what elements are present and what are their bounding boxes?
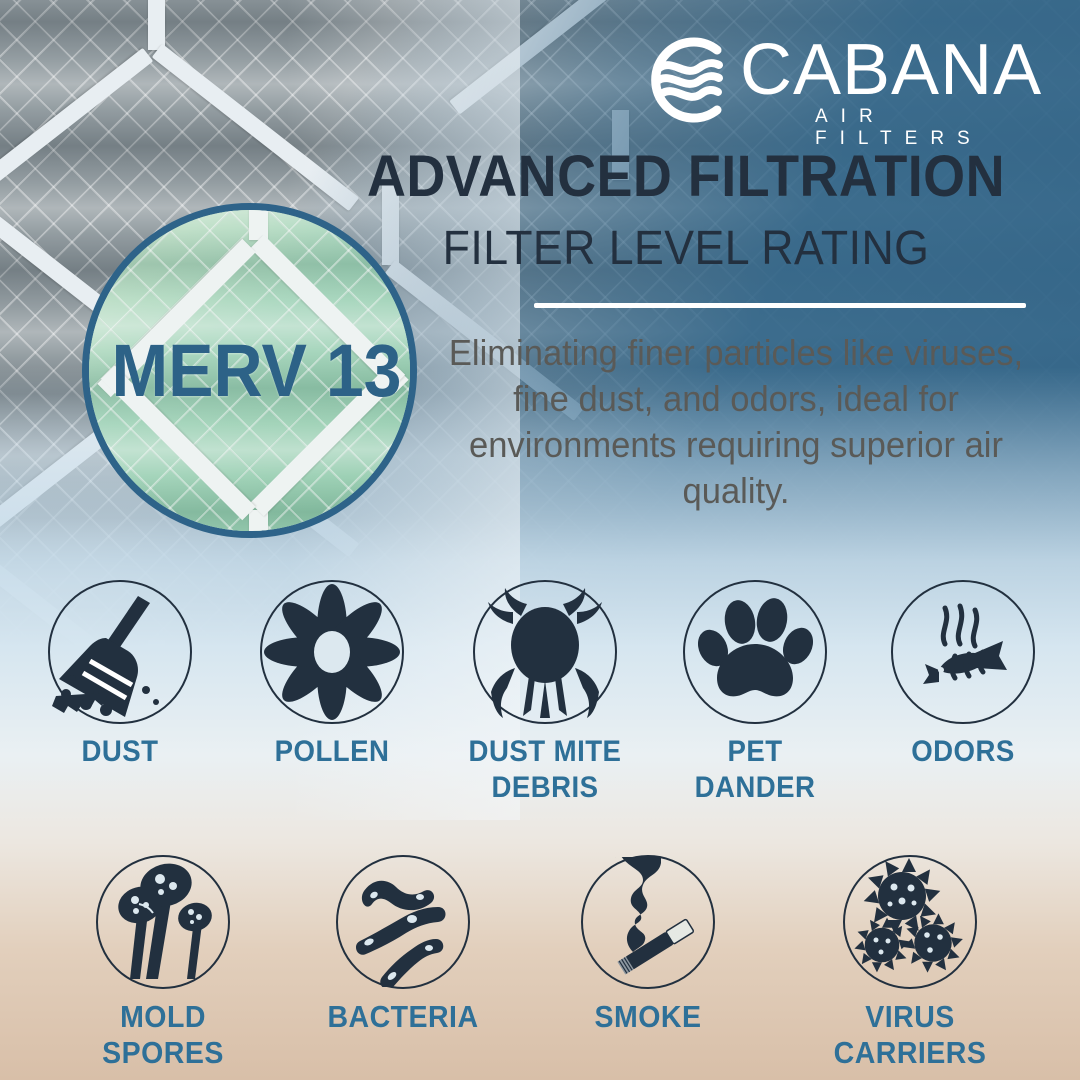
divider (534, 303, 1026, 308)
fish-bone-odor-icon (891, 580, 1035, 724)
contaminant-smoke: SMOKE (548, 855, 748, 1035)
merv-rating-badge: MERV 13 (82, 203, 417, 538)
contaminant-label: POLLEN (240, 734, 424, 770)
brand-name: CABANA (740, 32, 1042, 108)
wave-c-logo-icon (645, 34, 737, 126)
contaminant-label: BACTERIA (311, 999, 495, 1035)
merv-rating-text: MERV 13 (102, 328, 410, 413)
broom-dust-icon (48, 580, 192, 724)
contaminant-label: DUST MITE DEBRIS (453, 734, 637, 806)
contaminant-bacteria: BACTERIA (303, 855, 503, 1035)
contaminant-odors: ODORS (863, 580, 1063, 770)
virus-particles-icon (843, 855, 977, 989)
brand-logo: CABANA AIR FILTERS (645, 30, 1045, 135)
contaminant-label: DUST (28, 734, 212, 770)
contaminant-dust-mite: DUST MITE DEBRIS (445, 580, 645, 806)
mold-spore-icon (96, 855, 230, 989)
dust-mite-icon (473, 580, 617, 724)
description-text: Eliminating finer particles like viruses… (448, 330, 1024, 514)
contaminant-pet-dander: PET DANDER (655, 580, 855, 806)
paw-print-icon (683, 580, 827, 724)
contaminant-label: MOLD SPORES (71, 999, 255, 1071)
page-subtitle: FILTER LEVEL RATING (361, 222, 1012, 276)
contaminant-pollen: POLLEN (232, 580, 432, 770)
contaminant-virus-carriers: VIRUS CARRIERS (810, 855, 1010, 1071)
contaminant-label: SMOKE (556, 999, 740, 1035)
contaminant-dust: DUST (20, 580, 220, 770)
cigarette-smoke-icon (581, 855, 715, 989)
contaminant-label: PET DANDER (663, 734, 847, 806)
infographic-poster: CABANA AIR FILTERS ADVANCED FILTRATION F… (0, 0, 1080, 1080)
page-title: ADVANCED FILTRATION (361, 146, 1012, 208)
bacteria-rods-icon (336, 855, 470, 989)
contaminant-label: VIRUS CARRIERS (818, 999, 1002, 1071)
flower-icon (260, 580, 404, 724)
contaminant-mold-spores: MOLD SPORES (63, 855, 263, 1071)
contaminant-label: ODORS (871, 734, 1055, 770)
